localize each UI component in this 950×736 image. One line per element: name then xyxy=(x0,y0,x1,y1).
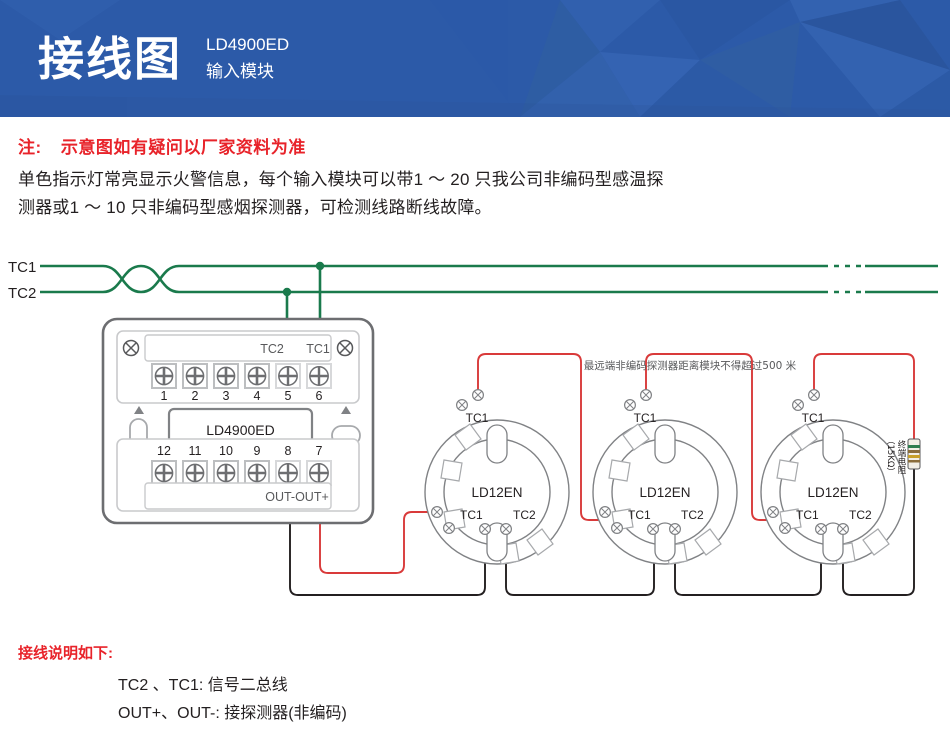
header-model: LD4900ED xyxy=(206,32,289,58)
terminal-number-9: 9 xyxy=(254,444,261,458)
detector-3-tc1-left: TC1 xyxy=(796,508,819,522)
bus-label-tc2: TC2 xyxy=(8,285,36,302)
resistor-label-cn: 终端电阻 xyxy=(896,439,906,475)
terminal-3[interactable] xyxy=(214,364,238,388)
terminal-number-3: 3 xyxy=(223,389,230,403)
module-label-tc2: TC2 xyxy=(260,342,284,356)
detector-base-1: LD12EN TC1 TC1 TC2 xyxy=(425,390,569,564)
detector-3-tc2: TC2 xyxy=(849,508,872,522)
distance-note: 最远端非编码探测器距离模块不得超过500 米 xyxy=(584,359,797,372)
detector-1-tc1-top: TC1 xyxy=(466,411,489,425)
legend-line-1: TC2 、TC1: 信号二总线 xyxy=(118,672,618,700)
detector-1-model: LD12EN xyxy=(471,485,522,500)
detector-2-tc1-top: TC1 xyxy=(634,411,657,425)
terminal-7[interactable] xyxy=(307,461,331,485)
detector-3-tc1-top: TC1 xyxy=(802,411,825,425)
terminal-6[interactable] xyxy=(307,364,331,388)
notes-block: 注: 示意图如有疑问以厂家资料为准 单色指示灯常亮显示火警信息，每个输入模块可以… xyxy=(0,117,950,221)
terminal-number-4: 4 xyxy=(254,389,261,403)
wiring-diagram: TC1 TC2 xyxy=(0,247,950,637)
resistor-label: 终端电阻 （15KΩ） xyxy=(885,436,906,476)
detector-3-model: LD12EN xyxy=(807,485,858,500)
detector-base-3: LD12EN TC1 TC1 TC2 xyxy=(761,390,905,564)
detector-slot-top-3 xyxy=(823,425,843,463)
detector-1-tc2: TC2 xyxy=(513,508,536,522)
terminal-4[interactable] xyxy=(245,364,269,388)
detector-base-2: LD12EN TC1 TC1 TC2 xyxy=(593,390,737,564)
terminal-number-2: 2 xyxy=(192,389,199,403)
detector-2-model: LD12EN xyxy=(639,485,690,500)
detector-2-tc1-left: TC1 xyxy=(628,508,651,522)
legend-title: 接线说明如下: xyxy=(18,642,618,663)
detector-2-tc2: TC2 xyxy=(681,508,704,522)
terminal-number-10: 10 xyxy=(219,444,233,458)
description-line-2: 测器或1 ～ 10 只非编码型感烟探测器，可检测线路断线故障。 xyxy=(18,194,932,222)
module-label-out: OUT-OUT+ xyxy=(265,490,329,504)
terminal-number-7: 7 xyxy=(316,444,323,458)
warning-label: 注: xyxy=(18,138,42,157)
terminal-number-5: 5 xyxy=(285,389,292,403)
terminal-number-12: 12 xyxy=(157,444,171,458)
terminal-10[interactable] xyxy=(214,461,238,485)
module-name: LD4900ED xyxy=(206,422,275,438)
page-header: 接线图 LD4900ED 输入模块 xyxy=(0,0,950,117)
resistor-value: （15KΩ） xyxy=(885,436,895,476)
warning-note: 注: 示意图如有疑问以厂家资料为准 xyxy=(18,133,932,158)
end-of-line-resistor-icon xyxy=(908,439,920,469)
terminal-5[interactable] xyxy=(276,364,300,388)
header-subtitle-cn: 输入模块 xyxy=(206,59,289,85)
terminal-2[interactable] xyxy=(183,364,207,388)
warning-text: 示意图如有疑问以厂家资料为准 xyxy=(61,138,306,157)
bus-label-tc1: TC1 xyxy=(8,259,36,276)
signal-bus-wires xyxy=(40,266,938,319)
terminal-8[interactable] xyxy=(276,461,300,485)
page-title: 接线图 xyxy=(38,36,182,82)
terminal-1[interactable] xyxy=(152,364,176,388)
terminal-number-6: 6 xyxy=(316,389,323,403)
input-module: TC2 TC1 xyxy=(103,319,373,523)
terminal-number-8: 8 xyxy=(285,444,292,458)
detector-1-tc1-left: TC1 xyxy=(460,508,483,522)
legend-line-2: OUT+、OUT-: 接探测器(非编码) xyxy=(118,700,618,728)
module-top-strip xyxy=(145,335,331,361)
description-text: 单色指示灯常亮显示火警信息，每个输入模块可以带1 ～ 20 只我公司非编码型感温… xyxy=(18,166,932,221)
terminal-11[interactable] xyxy=(183,461,207,485)
description-line-1: 单色指示灯常亮显示火警信息，每个输入模块可以带1 ～ 20 只我公司非编码型感温… xyxy=(18,166,932,194)
wiring-legend: 接线说明如下: TC2 、TC1: 信号二总线 OUT+、OUT-: 接探测器(… xyxy=(18,642,618,728)
terminal-number-1: 1 xyxy=(161,389,168,403)
detector-slot-top-1 xyxy=(487,425,507,463)
module-label-tc1: TC1 xyxy=(306,342,330,356)
terminal-12[interactable] xyxy=(152,461,176,485)
terminal-number-11: 11 xyxy=(189,444,202,458)
header-subtitle-block: LD4900ED 输入模块 xyxy=(206,32,289,85)
detector-slot-top-2 xyxy=(655,425,675,463)
terminal-9[interactable] xyxy=(245,461,269,485)
